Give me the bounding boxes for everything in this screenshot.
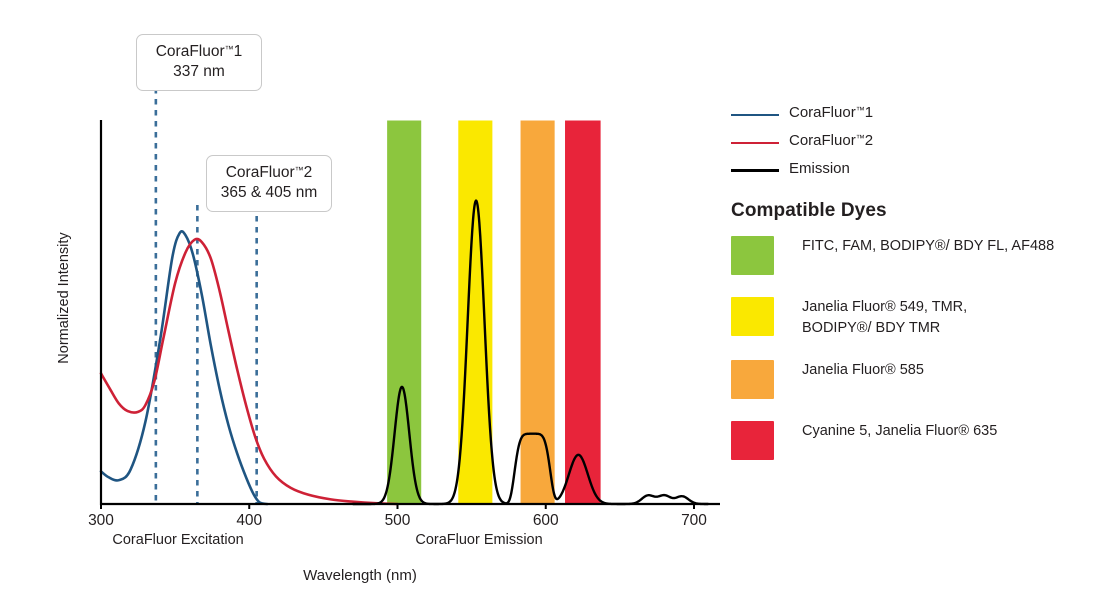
compatible-dye-row: Janelia Fluor® 549, TMR,BODIPY®/ BDY TMR [731, 297, 1103, 338]
excitation-curve-corafluor-1 [101, 231, 267, 504]
legend-line-swatch-emission [731, 164, 779, 178]
legend-item-corafluor-1: CoraFluor™1 [731, 104, 1103, 123]
x-tick-label-700: 700 [664, 512, 724, 530]
emission-band-orange [521, 121, 555, 505]
legend-item-emission: Emission [731, 160, 1103, 179]
dye-label: Janelia Fluor® 585 [774, 360, 924, 381]
x-tick-label-500: 500 [368, 512, 428, 530]
legend-line-swatch-corafluor-2 [731, 136, 779, 150]
dye-label: Cyanine 5, Janelia Fluor® 635 [774, 421, 997, 442]
callout-cf1-line2: 337 nm [149, 62, 249, 82]
compatible-dye-row: Janelia Fluor® 585 [731, 360, 1103, 399]
x-axis-section-excitation: CoraFluor Excitation [68, 532, 288, 548]
dye-color-swatch [731, 360, 774, 399]
emission-band-yellow [458, 121, 492, 505]
compatible-dyes-list: FITC, FAM, BODIPY®/ BDY FL, AF488Janelia… [731, 236, 1103, 460]
x-tick-label-600: 600 [516, 512, 576, 530]
dye-label-line: Cyanine 5, Janelia Fluor® 635 [802, 421, 997, 442]
fluorescence-spectra-chart: CoraFluor™1 337 nm CoraFluor™2 365 & 405… [0, 0, 1110, 612]
callout-cf1-line1: CoraFluor™1 [149, 42, 249, 62]
callout-corafluor-2: CoraFluor™2 365 & 405 nm [206, 155, 332, 212]
dye-color-swatch [731, 236, 774, 275]
excitation-curve-corafluor-2 [101, 239, 398, 504]
x-axis-section-emission: CoraFluor Emission [369, 532, 589, 548]
x-tick-label-300: 300 [71, 512, 131, 530]
dye-label-line: BODIPY®/ BDY TMR [802, 318, 967, 339]
y-axis-title: Normalized Intensity [56, 198, 72, 398]
emission-band-red [565, 121, 601, 505]
dye-label-line: Janelia Fluor® 549, TMR, [802, 297, 967, 318]
legend-label-corafluor-2: CoraFluor™2 [779, 132, 873, 151]
compatible-dyes-title: Compatible Dyes [731, 200, 1103, 222]
x-tick-label-400: 400 [219, 512, 279, 530]
legend-item-corafluor-2: CoraFluor™2 [731, 132, 1103, 151]
callout-cf2-line2: 365 & 405 nm [219, 183, 319, 203]
legend-label-emission: Emission [779, 160, 850, 179]
compatible-dye-row: Cyanine 5, Janelia Fluor® 635 [731, 421, 1103, 460]
compatible-dye-row: FITC, FAM, BODIPY®/ BDY FL, AF488 [731, 236, 1103, 275]
callout-cf2-line1: CoraFluor™2 [219, 163, 319, 183]
dye-color-swatch [731, 297, 774, 336]
x-axis-title: Wavelength (nm) [0, 567, 720, 584]
dye-label-line: FITC, FAM, BODIPY®/ BDY FL, AF488 [802, 236, 1054, 257]
callout-corafluor-1: CoraFluor™1 337 nm [136, 34, 262, 91]
dye-color-swatch [731, 421, 774, 460]
legend-line-swatch-corafluor-1 [731, 108, 779, 122]
legend-panel: CoraFluor™1 CoraFluor™2 Emission Compati… [731, 104, 1103, 482]
dye-label: Janelia Fluor® 549, TMR,BODIPY®/ BDY TMR [774, 297, 967, 338]
dye-label-line: Janelia Fluor® 585 [802, 360, 924, 381]
legend-label-corafluor-1: CoraFluor™1 [779, 104, 873, 123]
dye-label: FITC, FAM, BODIPY®/ BDY FL, AF488 [774, 236, 1054, 257]
